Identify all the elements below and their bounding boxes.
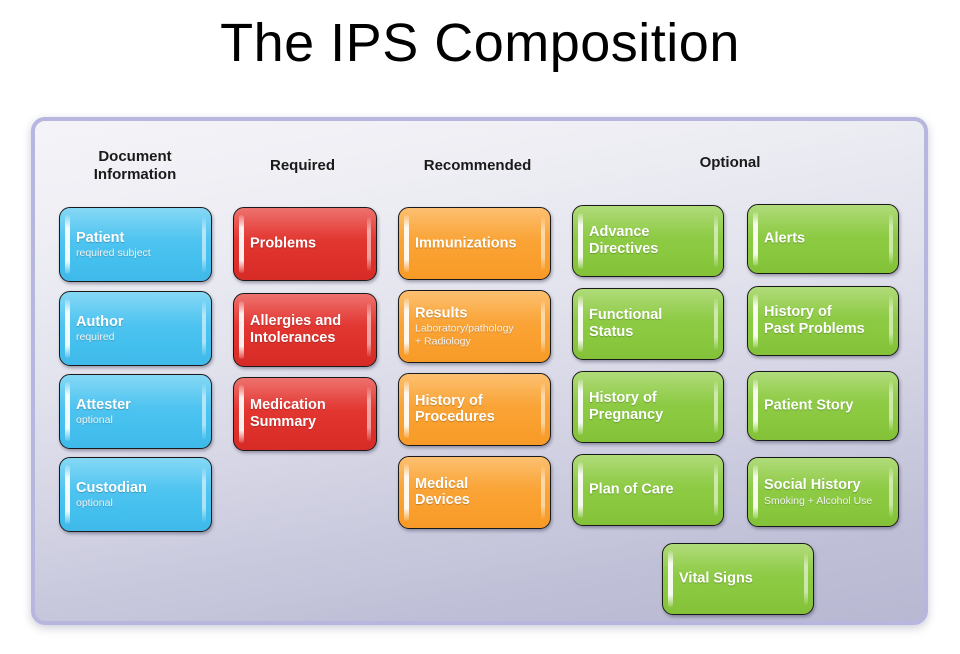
- box-title: Medication Summary: [250, 397, 364, 431]
- box-title: Author: [76, 313, 199, 330]
- box-sheen-right-icon: [804, 553, 808, 605]
- box-sheen-right-icon: [541, 383, 545, 436]
- box-sheen-left-icon: [404, 215, 409, 272]
- box-subtitle: required subject: [76, 247, 199, 259]
- box-sheen-left-icon: [753, 379, 758, 433]
- box-subtitle: required: [76, 331, 199, 343]
- column-header-recommended: Recommended: [395, 157, 560, 175]
- box-sheen-right-icon: [202, 217, 206, 272]
- box-title: Results: [415, 305, 538, 322]
- box-immunizations[interactable]: Immunizations: [398, 207, 551, 280]
- box-sheen-left-icon: [404, 381, 409, 438]
- box-social-history[interactable]: Social History Smoking + Alcohol Use: [747, 457, 899, 527]
- box-sheen-left-icon: [239, 215, 244, 273]
- box-title: History of Pregnancy: [589, 390, 711, 424]
- box-title: Problems: [250, 236, 364, 253]
- box-history-of-procedures[interactable]: History of Procedures: [398, 373, 551, 446]
- box-title: Patient: [76, 229, 199, 246]
- column-header-required: Required: [230, 157, 375, 175]
- box-sheen-left-icon: [65, 465, 70, 524]
- column-header-document-information: Document Information: [55, 148, 215, 183]
- box-sheen-left-icon: [753, 212, 758, 266]
- box-sheen-left-icon: [578, 296, 583, 352]
- box-history-of-pregnancy[interactable]: History of Pregnancy: [572, 371, 724, 443]
- box-title: Social History: [764, 477, 886, 494]
- box-custodian[interactable]: Custodian optional: [59, 457, 212, 532]
- box-title: Functional Status: [589, 307, 711, 341]
- box-title: Attester: [76, 396, 199, 413]
- box-results[interactable]: Results Laboratory/pathology + Radiology: [398, 290, 551, 363]
- column-header-optional: Optional: [635, 154, 825, 172]
- box-sheen-left-icon: [668, 551, 673, 607]
- box-sheen-left-icon: [753, 294, 758, 348]
- box-title: History of Procedures: [415, 393, 538, 427]
- box-subtitle: optional: [76, 414, 199, 426]
- box-sheen-left-icon: [578, 462, 583, 518]
- box-sheen-right-icon: [541, 300, 545, 353]
- box-sheen-right-icon: [889, 296, 893, 346]
- box-sheen-right-icon: [202, 467, 206, 522]
- box-title: Allergies and Intolerances: [250, 313, 364, 347]
- box-sheen-right-icon: [714, 381, 718, 433]
- box-sheen-right-icon: [889, 214, 893, 264]
- box-sheen-right-icon: [202, 301, 206, 356]
- box-sheen-left-icon: [239, 301, 244, 359]
- box-sheen-left-icon: [578, 213, 583, 269]
- box-sheen-left-icon: [404, 298, 409, 355]
- box-title: Vital Signs: [679, 571, 801, 588]
- box-patient-story[interactable]: Patient Story: [747, 371, 899, 441]
- box-title: Custodian: [76, 479, 199, 496]
- box-sheen-right-icon: [541, 217, 545, 270]
- box-patient[interactable]: Patient required subject: [59, 207, 212, 282]
- box-title: Patient Story: [764, 398, 886, 415]
- box-medical-devices[interactable]: Medical Devices: [398, 456, 551, 529]
- ips-composition-panel: Document Information Required Recommende…: [31, 117, 928, 625]
- box-medication-summary[interactable]: Medication Summary: [233, 377, 377, 451]
- box-sheen-right-icon: [889, 467, 893, 517]
- slide-canvas: The IPS Composition Document Information…: [0, 0, 960, 654]
- box-advance-directives[interactable]: Advance Directives: [572, 205, 724, 277]
- box-sheen-right-icon: [202, 384, 206, 439]
- box-sheen-left-icon: [753, 465, 758, 519]
- box-problems[interactable]: Problems: [233, 207, 377, 281]
- box-title: Medical Devices: [415, 476, 538, 510]
- box-sheen-left-icon: [239, 385, 244, 443]
- box-title: History of Past Problems: [764, 304, 886, 338]
- box-title: Alerts: [764, 231, 886, 248]
- box-attester[interactable]: Attester optional: [59, 374, 212, 449]
- box-sheen-right-icon: [367, 303, 371, 357]
- box-allergies-and-intolerances[interactable]: Allergies and Intolerances: [233, 293, 377, 367]
- box-title: Immunizations: [415, 235, 538, 252]
- box-sheen-right-icon: [714, 215, 718, 267]
- box-sheen-left-icon: [65, 215, 70, 274]
- box-plan-of-care[interactable]: Plan of Care: [572, 454, 724, 526]
- box-title: Advance Directives: [589, 224, 711, 258]
- box-sheen-right-icon: [714, 464, 718, 516]
- box-vital-signs[interactable]: Vital Signs: [662, 543, 814, 615]
- box-sheen-right-icon: [889, 381, 893, 431]
- box-sheen-right-icon: [714, 298, 718, 350]
- box-sheen-left-icon: [65, 382, 70, 441]
- page-title: The IPS Composition: [0, 14, 960, 73]
- box-subtitle: Smoking + Alcohol Use: [764, 495, 886, 507]
- box-sheen-right-icon: [367, 387, 371, 441]
- box-alerts[interactable]: Alerts: [747, 204, 899, 274]
- box-sheen-left-icon: [65, 299, 70, 358]
- box-author[interactable]: Author required: [59, 291, 212, 366]
- box-subtitle: optional: [76, 497, 199, 509]
- box-history-of-past-problems[interactable]: History of Past Problems: [747, 286, 899, 356]
- box-sheen-left-icon: [404, 464, 409, 521]
- box-sheen-left-icon: [578, 379, 583, 435]
- box-sheen-right-icon: [541, 466, 545, 519]
- box-subtitle: Laboratory/pathology + Radiology: [415, 323, 538, 348]
- box-functional-status[interactable]: Functional Status: [572, 288, 724, 360]
- box-title: Plan of Care: [589, 482, 711, 499]
- box-sheen-right-icon: [367, 217, 371, 271]
